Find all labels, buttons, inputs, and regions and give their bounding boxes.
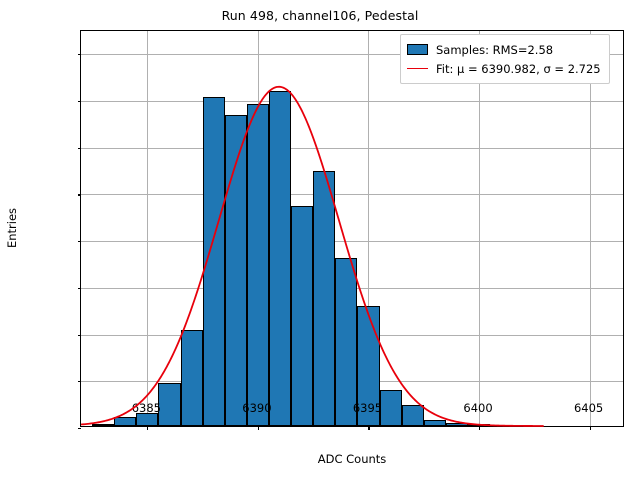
x-axis-tick-mark [590,426,591,430]
x-axis-tick-mark [147,426,148,430]
x-axis-label: ADC Counts [318,452,387,466]
plot-area [80,30,624,427]
y-axis-label: Entries [5,208,19,248]
fit-curve [81,31,623,426]
y-axis-tick-mark [78,428,82,429]
histogram-figure: Run 498, channel106, Pedestal Entries AD… [0,0,640,480]
gaussian-fit-path [81,87,544,426]
x-axis-tick-mark [368,426,369,430]
x-axis-tick-mark [258,426,259,430]
chart-title: Run 498, channel106, Pedestal [0,8,640,23]
x-axis-tick-mark [479,426,480,430]
